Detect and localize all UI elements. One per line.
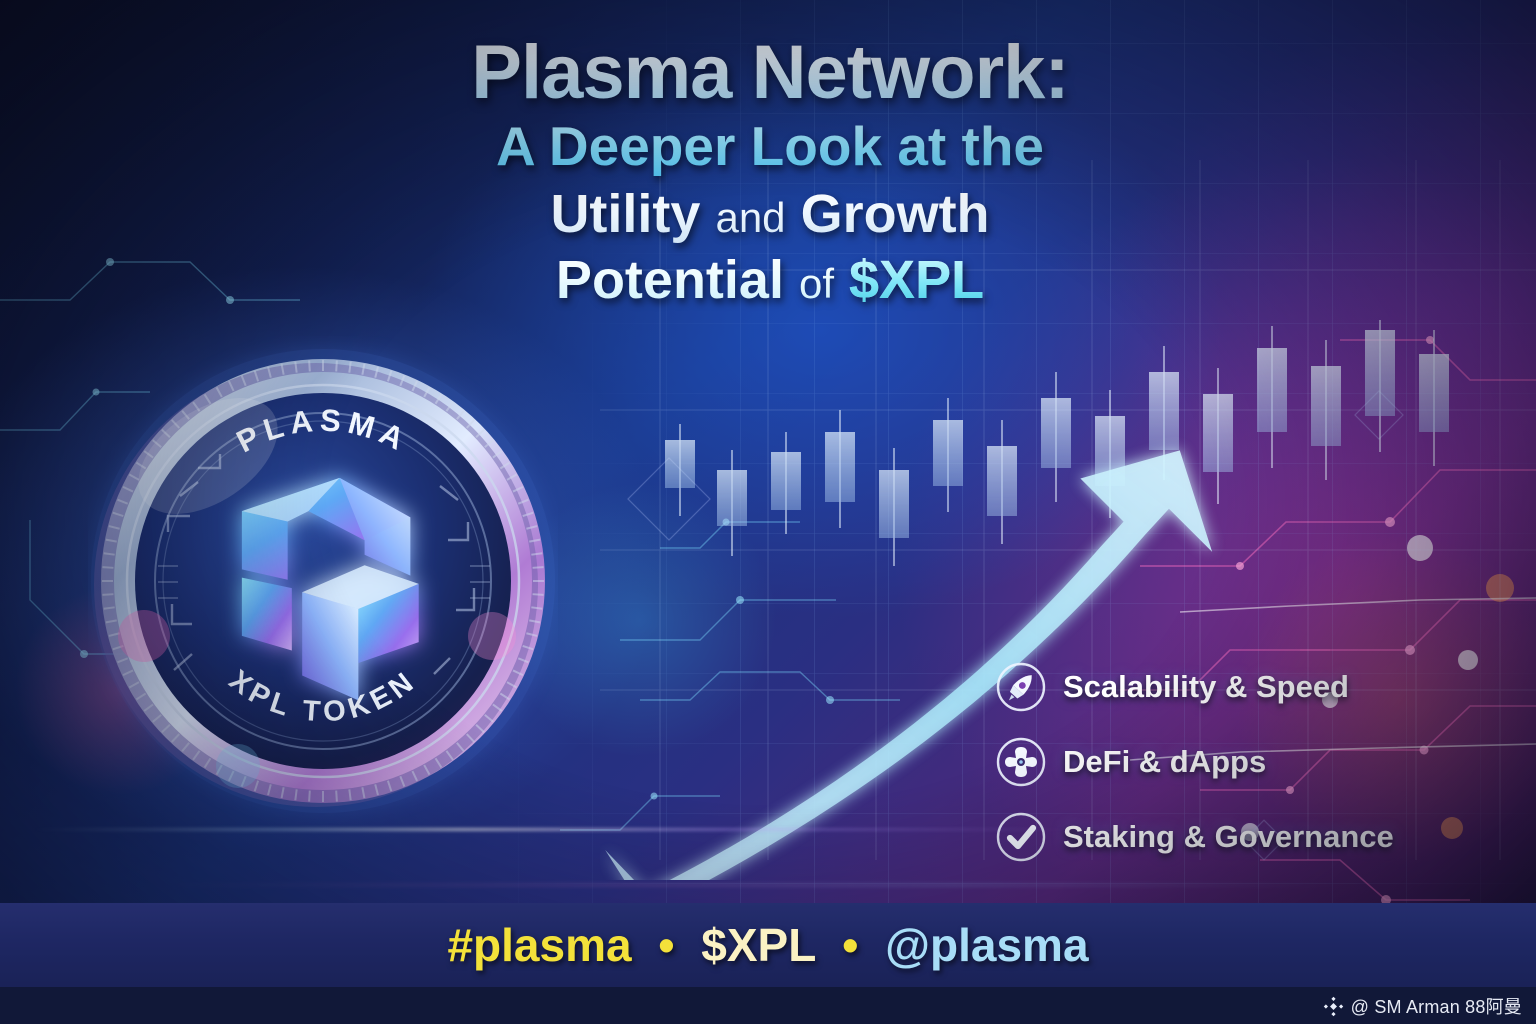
footer-band: #plasma • $XPL • @plasma xyxy=(0,903,1536,987)
watermark: @ SM Arman 88阿曼 xyxy=(1323,992,1522,1020)
candle-body xyxy=(1149,372,1179,450)
light-streak-upper xyxy=(0,828,1536,831)
candle-body xyxy=(933,420,963,486)
footer-hashtag[interactable]: #plasma xyxy=(447,919,631,971)
candle-body xyxy=(1311,366,1341,446)
check-icon xyxy=(995,811,1047,863)
candle-body xyxy=(717,470,747,526)
footer-base-strip xyxy=(0,987,1536,1024)
candle-body xyxy=(665,440,695,488)
feature-label: Staking & Governance xyxy=(1063,819,1394,855)
title-line-4-potential: Potential xyxy=(556,250,784,310)
title-line-3-and: and xyxy=(715,194,785,241)
rocket-icon xyxy=(995,661,1047,713)
feature-list: Scalability & Speed DeFi & dApps Staking… xyxy=(995,655,1394,880)
candle-body xyxy=(825,432,855,502)
title-line-3-utility: Utility xyxy=(550,184,700,244)
title-line-3: Utility and Growth xyxy=(300,184,1240,244)
binance-diamond-icon xyxy=(1323,996,1344,1017)
feature-item-staking: Staking & Governance xyxy=(995,805,1394,869)
poster-canvas: PLASMA XPL TOKEN Plasma Network: A Deepe… xyxy=(0,0,1536,1024)
burst-icon xyxy=(995,736,1047,788)
footer-ticker[interactable]: $XPL xyxy=(701,919,815,971)
footer-separator-2: • xyxy=(828,919,872,971)
candle-body xyxy=(1257,348,1287,432)
candle-body xyxy=(987,446,1017,516)
title-line-2: A Deeper Look at the xyxy=(300,116,1240,177)
title-line-4-ticker: $XPL xyxy=(849,250,984,310)
candle-body xyxy=(1365,330,1395,416)
candle-body xyxy=(879,470,909,538)
title-line-1: Plasma Network: xyxy=(300,34,1240,112)
feature-label: DeFi & dApps xyxy=(1063,744,1266,780)
title-line-4: Potential of $XPL xyxy=(300,250,1240,310)
candle-body xyxy=(1041,398,1071,468)
plasma-coin: PLASMA XPL TOKEN xyxy=(88,336,558,826)
footer-tags: #plasma • $XPL • @plasma xyxy=(447,918,1088,972)
light-streak-lower xyxy=(0,884,1536,886)
candle-body xyxy=(1203,394,1233,472)
title-line-4-of: of xyxy=(799,260,834,307)
watermark-text: @ SM Arman 88阿曼 xyxy=(1351,993,1522,1019)
headline-block: Plasma Network: A Deeper Look at the Uti… xyxy=(300,34,1240,311)
feature-item-defi: DeFi & dApps xyxy=(995,730,1394,794)
footer-separator-1: • xyxy=(644,919,688,971)
candle-body xyxy=(1419,354,1449,432)
candle-body xyxy=(771,452,801,510)
footer-handle[interactable]: @plasma xyxy=(885,919,1088,971)
feature-item-scalability: Scalability & Speed xyxy=(995,655,1394,719)
feature-label: Scalability & Speed xyxy=(1063,669,1349,705)
title-line-3-growth: Growth xyxy=(801,184,990,244)
